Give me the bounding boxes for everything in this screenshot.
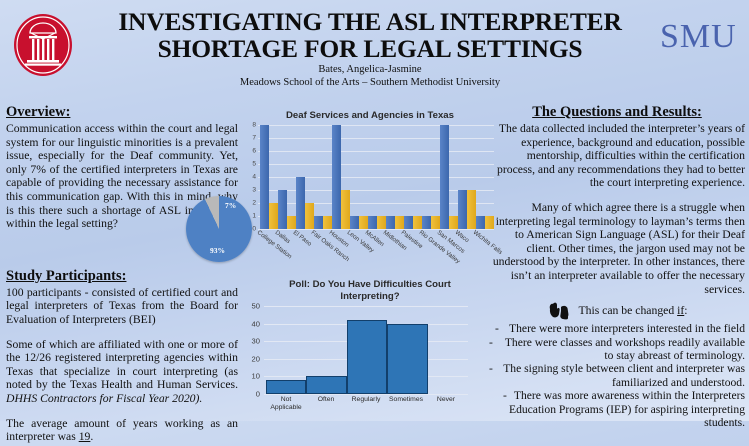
bar (476, 216, 484, 229)
bar (350, 216, 358, 229)
bar (431, 216, 439, 229)
bar (296, 177, 304, 229)
x-axis-tick: Never (426, 396, 466, 412)
y-axis-tick: 40 (244, 319, 260, 328)
middle-column: Deaf Services and Agencies in Texas 8765… (244, 110, 496, 412)
results-paragraph-2: Many of which agree there is a struggle … (489, 201, 745, 296)
smu-seal-icon (12, 12, 74, 78)
bar (269, 203, 277, 229)
poll-bar-container (266, 306, 466, 394)
bar (287, 216, 295, 229)
pie-slice-label-small: 7% (225, 201, 236, 210)
bar (306, 376, 346, 394)
y-axis-tick: 8 (244, 122, 256, 129)
y-axis-tick: 7 (244, 135, 256, 142)
bar (422, 216, 430, 229)
y-axis-tick: 6 (244, 148, 256, 155)
bar (386, 216, 394, 229)
participants-paragraph-1: 100 participants - consisted of certifie… (6, 286, 238, 327)
recommendation-item: -There was more awareness within the Int… (489, 389, 745, 429)
pie-slice-label-large: 93% (210, 246, 225, 255)
recommendation-text: There were classes and workshops readily… (505, 336, 745, 362)
bullet-marker: - (489, 336, 493, 349)
y-axis-tick: 4 (244, 174, 256, 181)
recommendation-item: -There were classes and workshops readil… (489, 336, 745, 363)
participants-paragraph-2: Some of which are affiliated with one or… (6, 338, 238, 406)
poll-chart-title: Poll: Do You Have Difficulties Court Int… (244, 279, 496, 303)
poll-chart: Poll: Do You Have Difficulties Court Int… (244, 279, 496, 412)
spacer (6, 329, 238, 338)
bar (278, 190, 286, 229)
avg-years-period: . (90, 430, 93, 443)
bar (377, 216, 385, 229)
changed-prefix: This can be changed (578, 304, 677, 317)
deaf-services-plot-area: 876543210 (244, 125, 496, 229)
poster-header: INVESTIGATING THE ASL INTERPRETER SHORTA… (0, 0, 749, 100)
recommendation-text: There were more interpreters interested … (509, 322, 745, 335)
pie-chart: 7% 93% (186, 196, 252, 262)
participants-p2-citation: DHHS Contractors for Fiscal Year 2020). (6, 392, 202, 405)
x-axis-tick: Not Applicable (266, 396, 306, 412)
recommendation-text: The signing style between client and int… (503, 362, 745, 388)
bar (359, 216, 367, 229)
bar (467, 190, 475, 229)
poll-title-line-2: Interpreting? (340, 291, 399, 302)
y-axis-tick: 50 (244, 302, 260, 311)
poster-canvas: INVESTIGATING THE ASL INTERPRETER SHORTA… (0, 0, 749, 421)
bar (347, 320, 387, 394)
bar (341, 190, 349, 229)
poster-title: INVESTIGATING THE ASL INTERPRETER SHORTA… (80, 8, 660, 62)
title-line-1: INVESTIGATING THE ASL INTERPRETER (118, 7, 621, 36)
recommendation-text: There was more awareness within the Inte… (509, 389, 745, 429)
title-line-2: SHORTAGE FOR LEGAL SETTINGS (158, 34, 583, 63)
poll-x-axis-labels: Not ApplicableOftenRegularlySometimesNev… (266, 396, 466, 412)
spacer (6, 408, 238, 417)
avg-years-value: 19 (79, 430, 91, 443)
avg-years-text: The average amount of years working as a… (6, 417, 238, 444)
bar (266, 380, 306, 394)
bar (368, 216, 376, 229)
bar (395, 216, 403, 229)
y-axis-tick: 0 (244, 226, 256, 233)
y-axis-tick: 20 (244, 354, 260, 363)
results-paragraph-1: The data collected included the interpre… (489, 122, 745, 190)
poll-title-line-1: Poll: Do You Have Difficulties Court (289, 279, 451, 290)
bar (305, 203, 313, 229)
x-axis-tick: Regularly (346, 396, 386, 412)
bar (449, 216, 457, 229)
can-be-changed-text: This can be changed if: (578, 304, 687, 317)
deaf-services-chart-title: Deaf Services and Agencies in Texas (244, 110, 496, 122)
y-axis-tick: 2 (244, 200, 256, 207)
gridline (264, 394, 468, 395)
y-axis-tick: 3 (244, 187, 256, 194)
recommendations-list: -There were more interpreters interested… (489, 322, 745, 429)
affiliation: Meadows School of the Arts – Southern Me… (80, 76, 660, 89)
spacer (489, 192, 745, 201)
deaf-services-x-axis-labels: College StationDallasEl PasoFair Oaks Ra… (260, 229, 496, 273)
y-axis-tick: 1 (244, 213, 256, 220)
bar (260, 125, 268, 229)
bar (413, 216, 421, 229)
participants-p2-text: Some of which are affiliated with one or… (6, 338, 238, 392)
y-axis-tick: 30 (244, 337, 260, 346)
recommendation-item: -The signing style between client and in… (489, 362, 745, 389)
bar (387, 324, 427, 394)
overview-heading: Overview: (6, 104, 238, 121)
bar-group-container (260, 125, 494, 229)
bullet-marker: - (489, 362, 493, 375)
right-column: The Questions and Results: The data coll… (489, 104, 745, 429)
deaf-services-chart: Deaf Services and Agencies in Texas 8765… (244, 110, 496, 273)
left-column: Overview: Communication access within th… (6, 104, 238, 446)
y-axis-tick: 5 (244, 161, 256, 168)
questions-results-heading: The Questions and Results: (489, 104, 745, 121)
x-axis-tick: Often (306, 396, 346, 412)
sign-language-hand-icon (546, 300, 572, 320)
study-participants-heading: Study Participants: (6, 268, 238, 285)
can-be-changed-line: This can be changed if: (489, 300, 745, 320)
bullet-marker: - (503, 389, 507, 402)
bar (323, 216, 331, 229)
bullet-marker: - (495, 322, 499, 335)
bar (458, 190, 466, 229)
bar (404, 216, 412, 229)
bar (440, 125, 448, 229)
bar (332, 125, 340, 229)
poll-plot-area: 50403020100 (244, 306, 496, 394)
bar (314, 216, 322, 229)
recommendation-item: -There were more interpreters interested… (489, 322, 745, 335)
y-axis-tick: 10 (244, 372, 260, 381)
changed-suffix: : (684, 304, 687, 317)
byline: Bates, Angelica-Jasmine Meadows School o… (80, 63, 660, 89)
x-axis-tick: El Paso (292, 229, 313, 248)
smu-wordmark: SMU (660, 18, 737, 56)
author-name: Bates, Angelica-Jasmine (80, 63, 660, 76)
y-axis-tick: 0 (244, 390, 260, 399)
x-axis-tick: Sometimes (386, 396, 426, 412)
